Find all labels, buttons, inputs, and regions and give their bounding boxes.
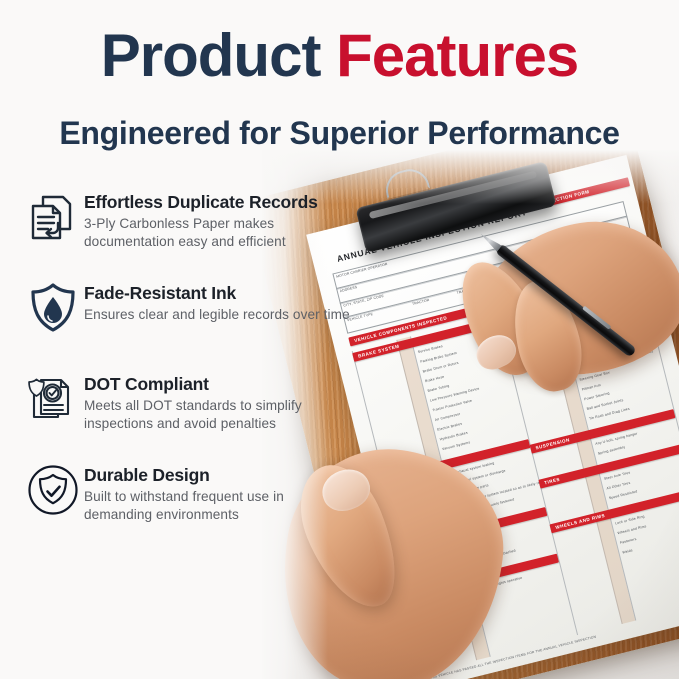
form-item: Brake Tubing: [427, 384, 450, 393]
form-item: Spring assembly: [597, 445, 625, 456]
feature-item-fade-resistant-ink: Fade-Resistant Ink Ensures clear and leg…: [22, 281, 352, 343]
feature-heading: Effortless Duplicate Records: [84, 192, 352, 213]
page-title-part1: Product: [101, 22, 321, 89]
feature-body: 3-Ply Carbonless Paper makes documentati…: [84, 215, 352, 250]
shield-check-circle-icon: [22, 463, 84, 525]
form-item: Air Compressor: [434, 412, 461, 422]
feature-list: Effortless Duplicate Records 3-Ply Carbo…: [22, 190, 352, 554]
page-subtitle: Engineered for Superior Performance: [0, 115, 679, 152]
document-check-shield-icon: [22, 372, 84, 434]
feature-heading: DOT Compliant: [84, 374, 352, 395]
feature-item-dot-compliant: DOT Compliant Meets all DOT standards to…: [22, 372, 352, 434]
form-item: Pitman Arm: [581, 383, 601, 392]
form-item: Service Brakes: [417, 344, 443, 354]
form-item: All Other Tires: [606, 481, 631, 491]
feature-body: Meets all DOT standards to simplify insp…: [84, 397, 352, 432]
form-item: Power Steering: [584, 391, 610, 401]
shield-ink-drop-icon: [22, 281, 84, 343]
feature-heading: Fade-Resistant Ink: [84, 283, 350, 304]
form-item: Welds: [622, 548, 633, 554]
form-item: Brake Drum or Rotors: [422, 361, 459, 374]
feature-body: Ensures clear and legible records over t…: [84, 306, 350, 324]
feature-body: Built to withstand frequent use in deman…: [84, 488, 352, 523]
form-item: Speed Restricted: [608, 489, 637, 500]
form-item: Wheels and Rims: [617, 524, 647, 535]
form-item: Electric Brakes: [437, 422, 463, 432]
page-title-part2: Features: [336, 22, 578, 89]
feature-item-durable-design: Durable Design Built to withstand freque…: [22, 463, 352, 525]
feature-heading: Durable Design: [84, 465, 352, 486]
form-item: Hydraulic Brakes: [439, 431, 468, 442]
form-item: Steer Axle Tires: [604, 470, 631, 480]
duplicate-documents-icon: [22, 190, 84, 252]
feature-item-duplicate-records: Effortless Duplicate Records 3-Ply Carbo…: [22, 190, 352, 252]
infographic-canvas: BUCK U.S. ANNUAL VEHICLE INSPECTION REPO…: [0, 0, 679, 679]
form-item: Fasteners: [620, 537, 637, 545]
page-title: Product Features: [0, 26, 679, 86]
form-item: Vacuum Systems: [442, 440, 471, 451]
form-item: Brake Hose: [425, 375, 445, 384]
